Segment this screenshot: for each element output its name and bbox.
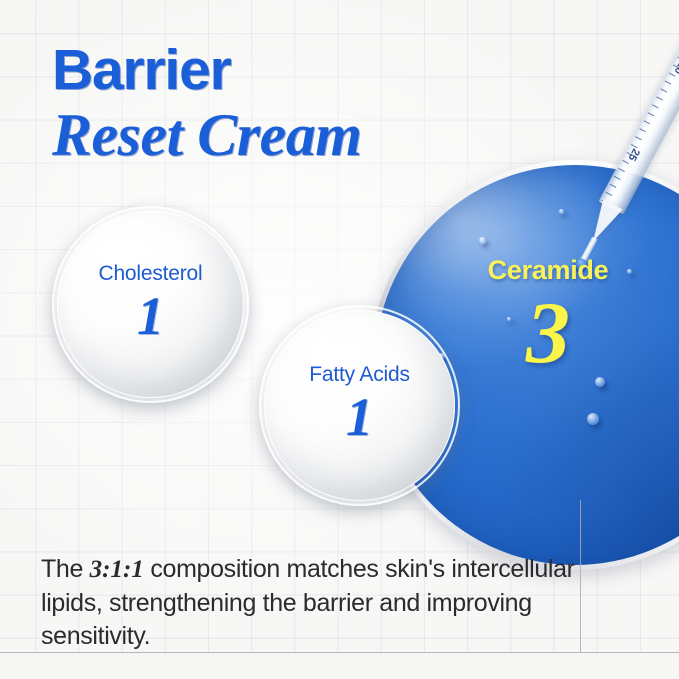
- ingredient-value-ceramide: 3: [430, 288, 666, 380]
- ingredient-cholesterol: Cholesterol 1: [57, 211, 244, 398]
- ingredient-cholesterol-content: Cholesterol 1: [57, 262, 244, 345]
- ingredient-value-fatty-acids: 1: [264, 389, 455, 446]
- ingredient-ceramide: Ceramide 3: [430, 255, 666, 380]
- liquid-bubble: [587, 413, 599, 425]
- ingredient-label-fatty-acids: Fatty Acids: [264, 363, 455, 387]
- product-infographic: Barrier Reset Cream Ceramide 3 20 25: [0, 0, 679, 679]
- ingredient-label-cholesterol: Cholesterol: [57, 262, 244, 286]
- page-title: Barrier Reset Cream: [52, 42, 361, 165]
- ingredient-value-cholesterol: 1: [57, 288, 244, 345]
- ingredient-fatty-acids-content: Fatty Acids 1: [264, 363, 455, 446]
- ingredient-label-ceramide: Ceramide: [430, 255, 666, 286]
- title-line-two: Reset Cream: [52, 105, 361, 165]
- title-line-one: Barrier: [52, 42, 361, 99]
- ratio-emphasis: 3:1:1: [90, 556, 144, 583]
- ingredient-fatty-acids: Fatty Acids 1: [264, 310, 455, 501]
- description-before-ratio: The: [41, 555, 90, 583]
- frame-rule-vertical: [580, 500, 581, 653]
- description-paragraph: The 3:1:1 composition matches skin's int…: [41, 553, 586, 654]
- liquid-bubble: [479, 237, 486, 244]
- liquid-bubble: [559, 209, 564, 214]
- bottom-margin-area: [0, 653, 679, 679]
